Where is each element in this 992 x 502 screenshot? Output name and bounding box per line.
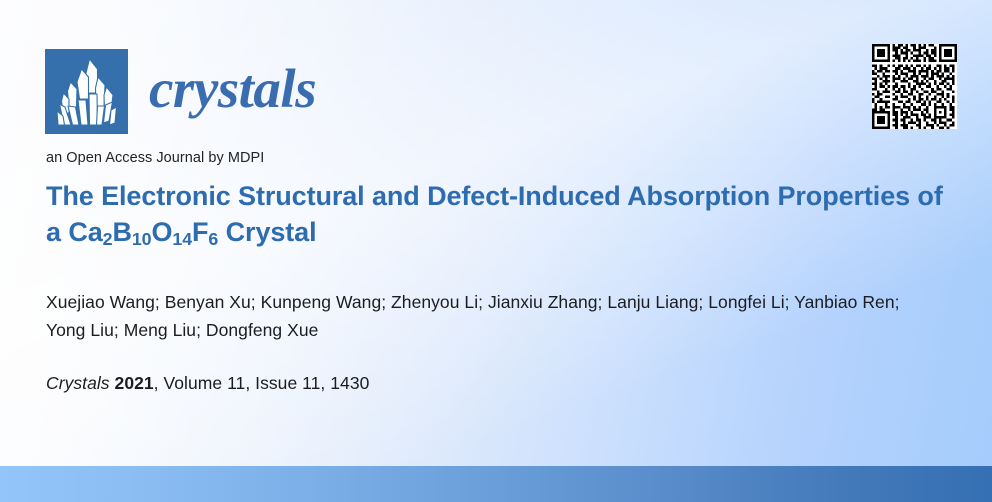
citation-line: Crystals 2021, Volume 11, Issue 11, 1430 bbox=[46, 370, 369, 396]
article-title-line-2-prefix: a Ca bbox=[46, 217, 103, 247]
article-cover-card: crystals an Open Access Journal by MDPI bbox=[0, 0, 992, 502]
formula-element-b: B bbox=[112, 217, 131, 247]
formula-subscript-6: 6 bbox=[208, 229, 218, 249]
formula-element-o: O bbox=[151, 217, 172, 247]
journal-tagline: an Open Access Journal by MDPI bbox=[46, 150, 264, 166]
citation-volume-issue: , Volume 11, Issue 11, 1430 bbox=[154, 373, 370, 393]
article-title-line-1: The Electronic Structural and Defect-Ind… bbox=[46, 181, 943, 211]
crystals-logo-icon bbox=[45, 49, 128, 134]
citation-year: 2021 bbox=[115, 373, 154, 393]
footer-accent-bar bbox=[0, 466, 992, 502]
formula-element-f: F bbox=[192, 217, 208, 247]
page-title: The Electronic Structural and Defect-Ind… bbox=[46, 178, 946, 250]
journal-branding: crystals bbox=[45, 49, 316, 134]
article-title-line-2-suffix: Crystal bbox=[218, 217, 316, 247]
citation-journal-name: Crystals bbox=[46, 373, 110, 393]
formula-subscript-14: 14 bbox=[172, 229, 192, 249]
author-list: Xuejiao Wang; Benyan Xu; Kunpeng Wang; Z… bbox=[46, 288, 936, 344]
formula-subscript-10: 10 bbox=[132, 229, 152, 249]
formula-subscript-2: 2 bbox=[103, 229, 113, 249]
qr-code-icon[interactable] bbox=[872, 44, 957, 129]
journal-wordmark: crystals bbox=[149, 61, 316, 122]
